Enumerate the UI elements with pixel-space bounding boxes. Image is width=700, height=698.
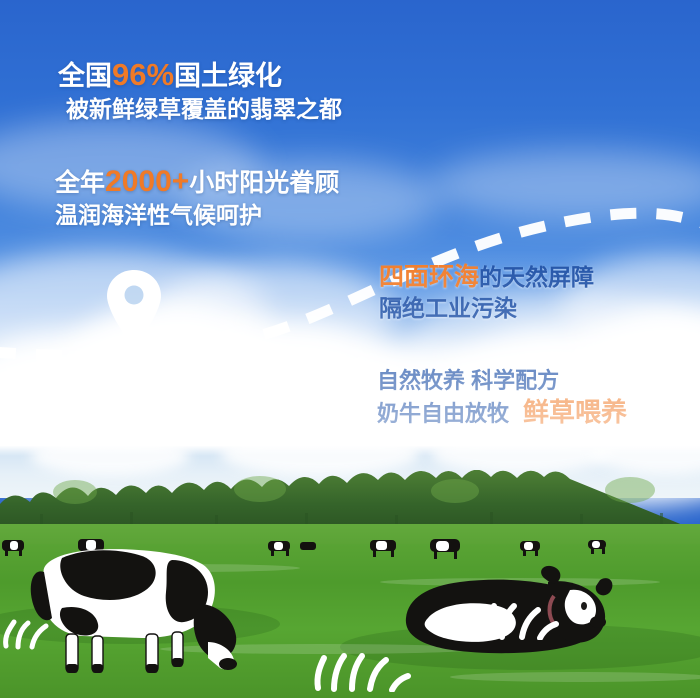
photo-top-fade [0, 446, 700, 456]
hand-drawn-grass-tuft [472, 598, 562, 640]
sky-haze-overlay [0, 250, 700, 470]
pasture-photo [0, 446, 700, 698]
greening-claim-line1: 全国96%国土绿化 [58, 55, 342, 95]
greening-percent-value: 96% [112, 57, 174, 92]
sunshine-hours-value: 2000+ [105, 165, 189, 198]
greening-pre-text: 全国 [58, 61, 112, 91]
sunshine-pre-text: 全年 [55, 169, 105, 197]
sunshine-claim-line2: 温润海洋性气候呵护 [55, 201, 339, 231]
treeline [0, 470, 700, 532]
hand-drawn-grass-tuft [0, 614, 56, 650]
hand-drawn-grass-tuft [306, 644, 416, 692]
sunshine-post-text: 小时阳光眷顾 [189, 169, 339, 197]
poster-root: 全国96%国土绿化 被新鲜绿草覆盖的翡翠之都 全年2000+小时阳光眷顾 温润海… [0, 0, 700, 698]
grazing-cow [22, 538, 242, 678]
greening-post-text: 国土绿化 [174, 61, 282, 91]
sunshine-claim-block: 全年2000+小时阳光眷顾 温润海洋性气候呵护 [55, 162, 339, 231]
greening-claim-line2: 被新鲜绿草覆盖的翡翠之都 [58, 95, 342, 125]
sunshine-claim-line1: 全年2000+小时阳光眷顾 [55, 162, 339, 201]
greening-claim-block: 全国96%国土绿化 被新鲜绿草覆盖的翡翠之都 [58, 55, 342, 125]
